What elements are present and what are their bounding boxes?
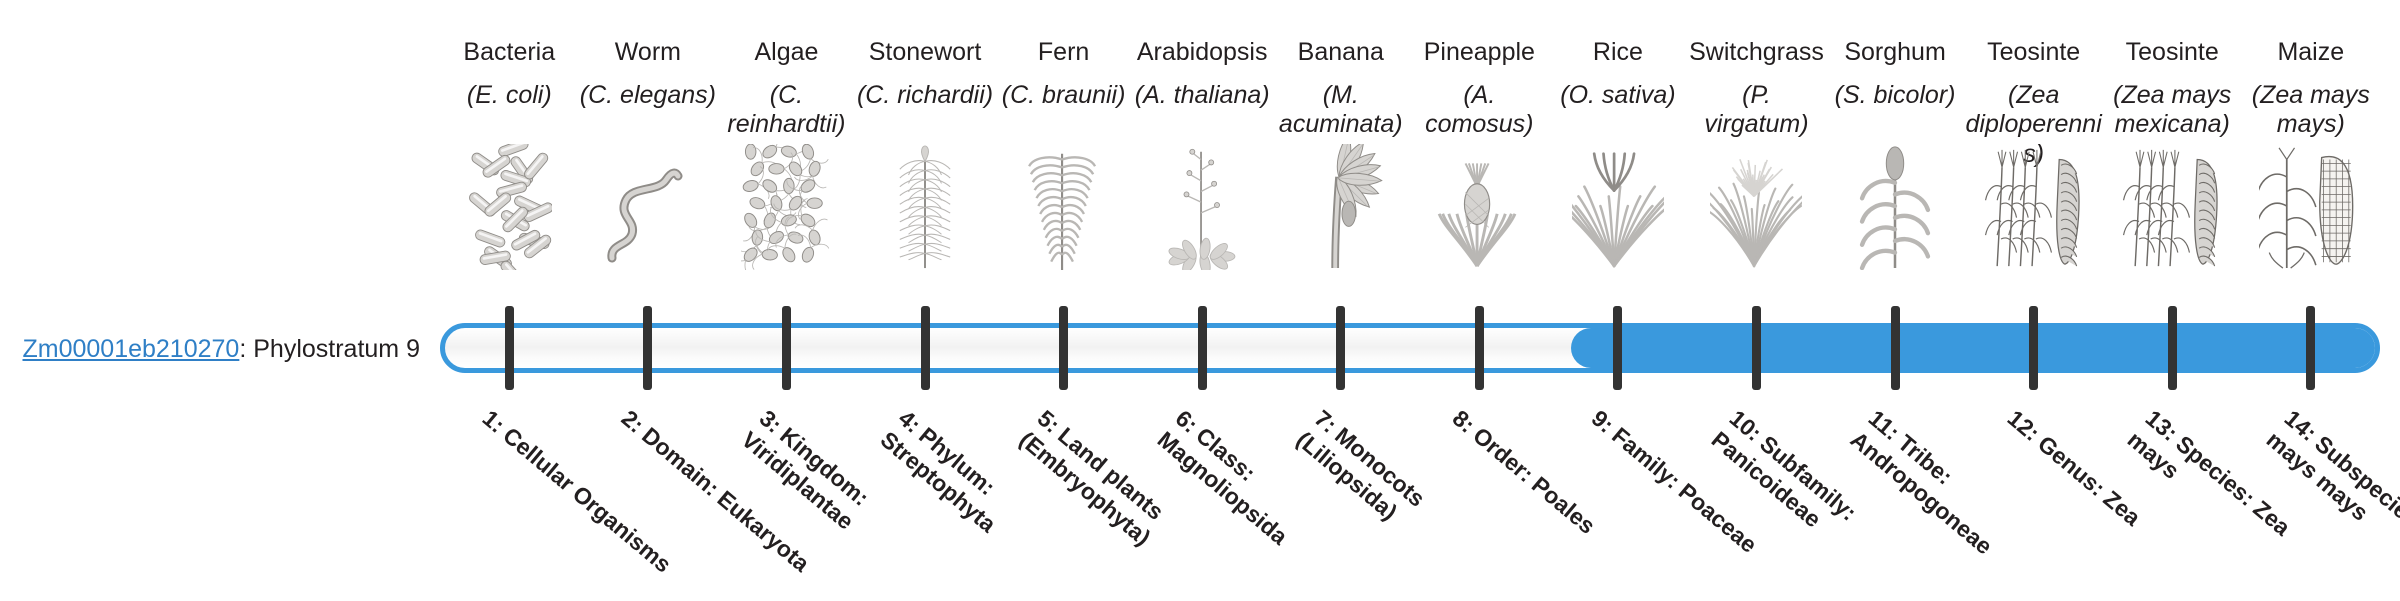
species-column: Teosinte(Zea diploperennis): [1964, 38, 2103, 298]
species-common-name: Algae: [752, 38, 820, 67]
species-common-name: Switchgrass: [1687, 38, 1826, 67]
phylostratum-tick-layer: [440, 306, 2380, 390]
phylostratum-figure: Zm00001eb210270: Phylostratum 9 Bacteria…: [0, 0, 2400, 580]
species-scientific-name: (C. braunii): [993, 81, 1134, 111]
phylostratum-tick[interactable]: [1059, 306, 1068, 390]
species-column: Stonewort(C. richardii): [856, 38, 995, 298]
species-column: Fern(C. braunii): [994, 38, 1133, 298]
species-scientific-name: (S. bicolor): [1825, 81, 1966, 111]
stonewort-icon: [856, 144, 995, 270]
species-common-name: Maize: [2275, 38, 2346, 67]
species-scientific-name: (M. acuminata): [1270, 81, 1411, 140]
algae-cells-icon: [717, 144, 856, 270]
banana-plant-icon: [1271, 144, 1410, 270]
species-common-name: Banana: [1296, 38, 1386, 67]
gene-phylostratum-label: Zm00001eb210270: Phylostratum 9: [0, 336, 420, 364]
fern-frond-icon: [994, 144, 1133, 270]
taxonomic-rank-row: 1: Cellular Organisms2: Domain: Eukaryot…: [440, 396, 2380, 580]
bacteria-rods-icon: [440, 144, 579, 270]
phylostratum-tick[interactable]: [2029, 306, 2038, 390]
species-scientific-name: (C. elegans): [578, 81, 719, 111]
species-column: Worm(C. elegans): [579, 38, 718, 298]
rice-grass-icon: [1549, 144, 1688, 270]
phylostratum-tick[interactable]: [643, 306, 652, 390]
species-scientific-name: (O. sativa): [1548, 81, 1689, 111]
phylostratum-tick[interactable]: [782, 306, 791, 390]
species-column: Rice(O. sativa): [1549, 38, 1688, 298]
species-column: Switchgrass(P. virgatum): [1687, 38, 1826, 298]
species-common-name: Pineapple: [1422, 38, 1537, 67]
teosinte-plant-ear-icon: [2103, 144, 2242, 270]
phylostratum-tick[interactable]: [1475, 306, 1484, 390]
species-scientific-name: (A. comosus): [1409, 81, 1550, 140]
phylostratum-tick[interactable]: [1336, 306, 1345, 390]
species-common-name: Stonewort: [867, 38, 984, 67]
phylostratum-tick[interactable]: [2306, 306, 2315, 390]
nematode-worm-icon: [579, 144, 718, 270]
phylostratum-tick[interactable]: [1891, 306, 1900, 390]
species-common-name: Fern: [1036, 38, 1091, 67]
teosinte-plant-ear-icon: [1964, 144, 2103, 270]
species-header-row: Bacteria(E. coli): [440, 38, 2380, 298]
species-scientific-name: (A. thaliana): [1132, 81, 1273, 111]
phylostratum-tick[interactable]: [1613, 306, 1622, 390]
species-common-name: Teosinte: [2124, 38, 2221, 67]
species-scientific-name: (Zea mays mays): [2241, 81, 2382, 140]
phylostratum-tick[interactable]: [921, 306, 930, 390]
species-common-name: Arabidopsis: [1135, 38, 1270, 67]
gene-accession-link[interactable]: Zm00001eb210270: [22, 335, 239, 363]
species-scientific-name: (P. virgatum): [1686, 81, 1827, 140]
phylostratum-bar: [440, 306, 2380, 390]
phylostratum-tick[interactable]: [505, 306, 514, 390]
phylostratum-tick[interactable]: [1752, 306, 1761, 390]
species-scientific-name: (E. coli): [439, 81, 580, 111]
phylostratum-tick[interactable]: [2168, 306, 2177, 390]
pineapple-plant-icon: [1410, 144, 1549, 270]
species-common-name: Teosinte: [1985, 38, 2082, 67]
species-common-name: Rice: [1591, 38, 1645, 67]
gene-label-separator: :: [239, 335, 253, 363]
phylostratum-tick[interactable]: [1198, 306, 1207, 390]
species-common-name: Sorghum: [1842, 38, 1947, 67]
maize-plant-cob-icon: [2242, 144, 2381, 270]
species-common-name: Worm: [613, 38, 683, 67]
phylostratum-value-text: Phylostratum 9: [253, 335, 420, 363]
species-column: Teosinte(Zea mays mexicana): [2103, 38, 2242, 298]
species-column: Arabidopsis(A. thaliana): [1133, 38, 1272, 298]
species-scientific-name: (C. reinhardtii): [716, 81, 857, 140]
species-column: Algae(C. reinhardtii): [717, 38, 856, 298]
species-column: Pineapple(A. comosus): [1410, 38, 1549, 298]
switchgrass-icon: [1687, 144, 1826, 270]
arabidopsis-rosette-icon: [1133, 144, 1272, 270]
species-scientific-name: (Zea mays mexicana): [2102, 81, 2243, 140]
species-scientific-name: (C. richardii): [855, 81, 996, 111]
species-column: Maize(Zea mays mays): [2242, 38, 2381, 298]
sorghum-plant-icon: [1826, 144, 1965, 270]
species-column: Sorghum(S. bicolor): [1826, 38, 1965, 298]
species-column: Banana(M. acuminata): [1271, 38, 1410, 298]
species-column: Bacteria(E. coli): [440, 38, 579, 298]
species-common-name: Bacteria: [461, 38, 557, 67]
